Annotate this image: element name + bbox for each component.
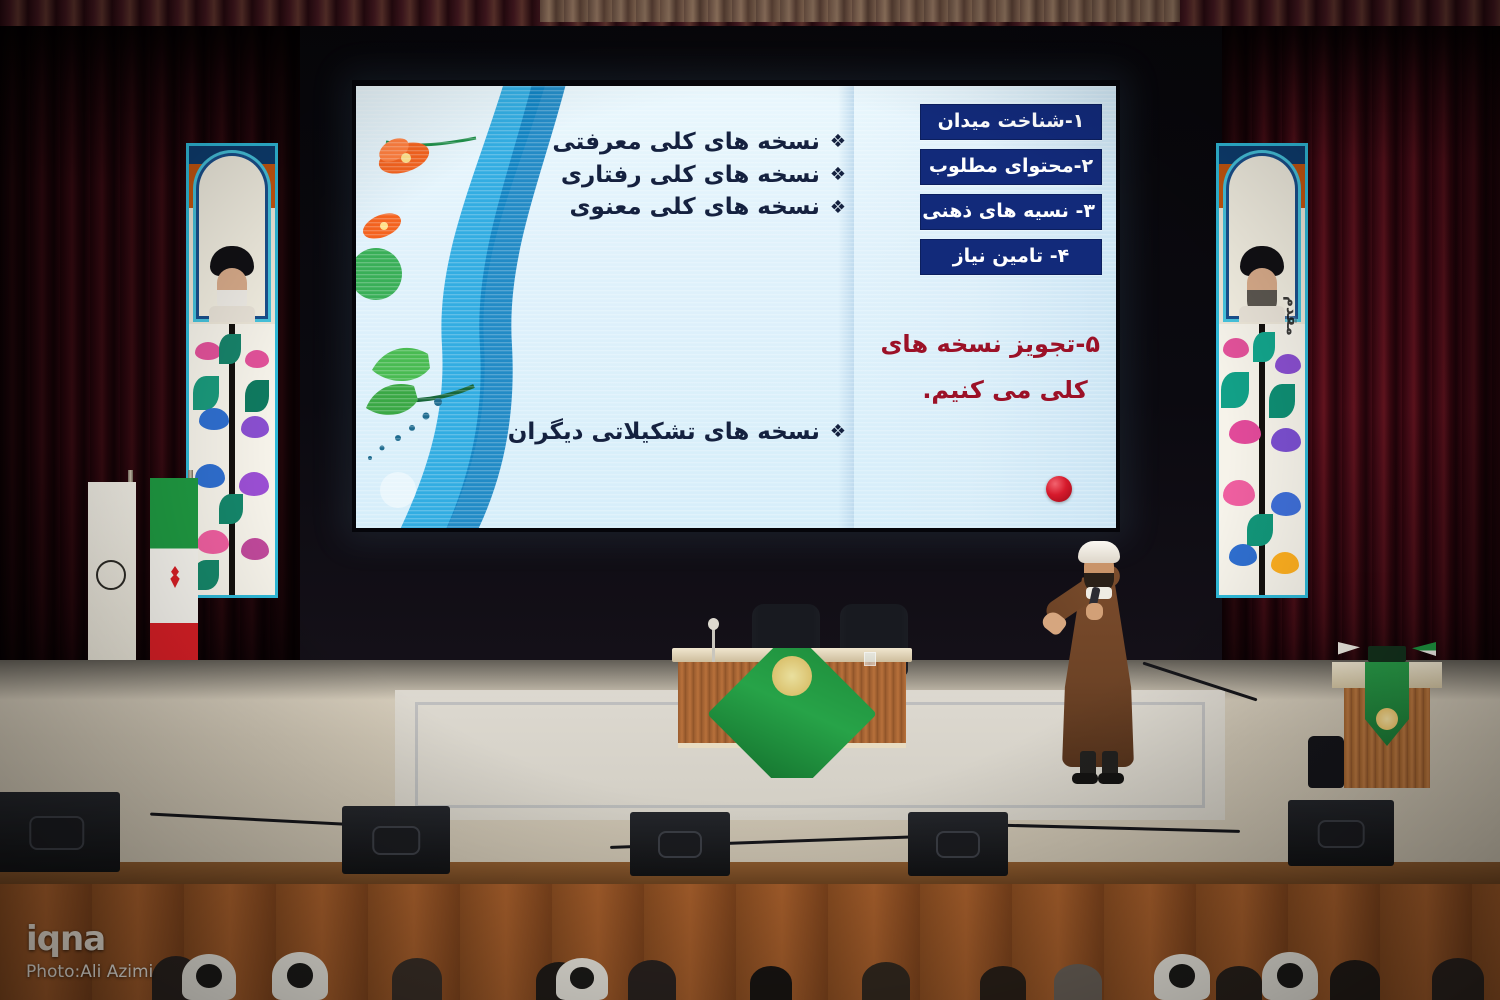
table-microphone-stand bbox=[712, 626, 715, 662]
tile-stem bbox=[229, 324, 235, 595]
podium-laptop bbox=[1368, 646, 1406, 662]
cloth-medallion bbox=[772, 656, 812, 696]
diamond-bullet-icon: ❖ bbox=[830, 199, 846, 217]
list-item: ❖ نسخه های کلی رفتاری bbox=[426, 159, 846, 192]
tile-flower bbox=[1223, 480, 1255, 506]
tile-flower bbox=[241, 538, 269, 560]
audience-turban bbox=[1262, 952, 1318, 1000]
tile-flower bbox=[195, 464, 225, 488]
banner-imam-khomeini bbox=[186, 143, 278, 598]
step-box-1: ۱-شناخت میدان bbox=[920, 104, 1102, 140]
curtain-valance-lit bbox=[540, 0, 1180, 22]
floor-monitor-5 bbox=[1288, 800, 1394, 866]
audience-head bbox=[392, 958, 442, 1000]
tile-flower bbox=[1275, 354, 1301, 374]
portrait-khomeini bbox=[209, 246, 255, 318]
floor-monitor-4 bbox=[908, 812, 1008, 876]
audience-turban bbox=[272, 952, 328, 1000]
slide-highlight-text: ۵-تجویز نسخه های کلی می کنیم. bbox=[910, 322, 1100, 413]
list-item: ❖ نسخه های تشکیلاتی دیگران bbox=[416, 416, 846, 449]
speaker-hand bbox=[1040, 609, 1069, 638]
stage-edge bbox=[0, 862, 1500, 884]
head-table bbox=[672, 648, 912, 754]
auditorium-scene: ❖ نسخه های کلی معرفتی ❖ نسخه های کلی رفت… bbox=[0, 0, 1500, 1000]
highlight-line-1: ۵-تجویز نسخه های bbox=[910, 322, 1100, 368]
iqna-logo: iqna bbox=[26, 922, 153, 956]
banner-floral-tiles bbox=[189, 324, 275, 595]
banner-welcome-text: مقدم bbox=[1283, 296, 1301, 336]
audience-head bbox=[1330, 960, 1380, 1000]
tile-stem bbox=[1259, 324, 1265, 595]
step-box-4: ۴- تامین نیاز bbox=[920, 239, 1102, 275]
audience-turban bbox=[556, 958, 608, 1000]
red-circle-bullet-icon bbox=[1046, 476, 1072, 502]
robe-shape bbox=[1239, 306, 1285, 322]
tile-leaf bbox=[219, 334, 241, 364]
speaker-turban-icon bbox=[1078, 541, 1120, 563]
banner-floral-tiles bbox=[1219, 324, 1305, 595]
audience-head bbox=[862, 962, 910, 1000]
tile-leaf bbox=[245, 380, 269, 412]
tile-leaf bbox=[219, 494, 243, 524]
slide-bullet-list-bottom: ❖ نسخه های تشکیلاتی دیگران bbox=[416, 416, 846, 449]
tile-leaf bbox=[1221, 372, 1249, 408]
tile-flower bbox=[245, 350, 269, 368]
audience-head bbox=[1054, 964, 1102, 1000]
tile-flower bbox=[1223, 338, 1249, 358]
audience-head bbox=[628, 960, 676, 1000]
tile-flower bbox=[199, 408, 229, 430]
audience-head bbox=[750, 966, 792, 1000]
banner-ayatollah-khamenei: مقدم bbox=[1216, 143, 1308, 598]
tile-flower bbox=[195, 342, 221, 360]
flag-seal-icon bbox=[96, 560, 126, 590]
tile-flower bbox=[239, 472, 269, 496]
diamond-bullet-icon: ❖ bbox=[830, 423, 846, 441]
monitor-port bbox=[658, 831, 702, 858]
audience-head bbox=[980, 966, 1026, 1000]
photo-credit: Photo:Ali Azimi bbox=[26, 962, 153, 982]
audience-head bbox=[1432, 958, 1484, 1000]
podium-cloth-medallion bbox=[1376, 708, 1398, 730]
water-glass bbox=[864, 652, 876, 666]
highlight-line-2: کلی می کنیم. bbox=[910, 368, 1100, 414]
floor-monitor-1 bbox=[0, 792, 120, 872]
tile-leaf bbox=[1269, 384, 1295, 418]
tile-leaf bbox=[1253, 332, 1275, 362]
tile-flower bbox=[1229, 420, 1261, 444]
watermark: iqna Photo:Ali Azimi bbox=[26, 922, 153, 982]
list-item-label: نسخه های کلی رفتاری bbox=[561, 159, 820, 192]
audience-turban bbox=[182, 954, 236, 1000]
table-microphone-head bbox=[708, 618, 719, 630]
diamond-bullet-icon: ❖ bbox=[830, 133, 846, 151]
tile-flower bbox=[1229, 544, 1257, 566]
projection-screen: ❖ نسخه های کلی معرفتی ❖ نسخه های کلی رفت… bbox=[352, 80, 1120, 532]
tile-flower bbox=[241, 416, 269, 438]
portrait-khamenei bbox=[1239, 246, 1285, 318]
presentation-slide: ❖ نسخه های کلی معرفتی ❖ نسخه های کلی رفت… bbox=[356, 86, 1116, 528]
tile-flower bbox=[197, 530, 229, 554]
robe-shape bbox=[209, 306, 255, 322]
banner-arch bbox=[189, 146, 275, 324]
step-box-3: ۳- نسیه های ذهنی bbox=[920, 194, 1102, 230]
list-item: ❖ نسخه های کلی معرفتی bbox=[426, 126, 846, 159]
tile-leaf bbox=[193, 376, 219, 410]
list-item-label: نسخه های تشکیلاتی دیگران bbox=[508, 416, 820, 449]
monitor-port bbox=[936, 831, 980, 858]
speaker-shoe-right bbox=[1098, 773, 1124, 784]
floor-monitor-3 bbox=[630, 812, 730, 876]
slide-bullet-list-top: ❖ نسخه های کلی معرفتی ❖ نسخه های کلی رفت… bbox=[426, 126, 846, 224]
audience-turban bbox=[1154, 954, 1210, 1000]
monitor-port bbox=[372, 826, 420, 855]
audience-head bbox=[1216, 966, 1262, 1000]
list-item-label: نسخه های کلی معنوی bbox=[569, 191, 819, 224]
speaker-mic-hand bbox=[1086, 603, 1103, 620]
speaker-presenter bbox=[1040, 525, 1160, 790]
list-item-label: نسخه های کلی معرفتی bbox=[552, 126, 820, 159]
podium bbox=[1332, 640, 1442, 788]
tile-flower bbox=[1271, 492, 1301, 516]
speaker-shoe-left bbox=[1072, 773, 1098, 784]
monitor-port bbox=[29, 816, 84, 850]
list-item: ❖ نسخه های کلی معنوی bbox=[426, 191, 846, 224]
diamond-bullet-icon: ❖ bbox=[830, 166, 846, 184]
tile-flower bbox=[1271, 428, 1301, 452]
tile-flower bbox=[1271, 552, 1299, 574]
slide-numbered-steps: ۱-شناخت میدان ۲-محتوای مطلوب ۳- نسیه های… bbox=[920, 104, 1102, 284]
black-bag bbox=[1308, 736, 1344, 788]
floor-monitor-2 bbox=[342, 806, 450, 874]
monitor-port bbox=[1318, 820, 1365, 848]
step-box-2: ۲-محتوای مطلوب bbox=[920, 149, 1102, 185]
tile-leaf bbox=[1247, 514, 1273, 546]
iran-emblem-icon bbox=[166, 566, 184, 588]
